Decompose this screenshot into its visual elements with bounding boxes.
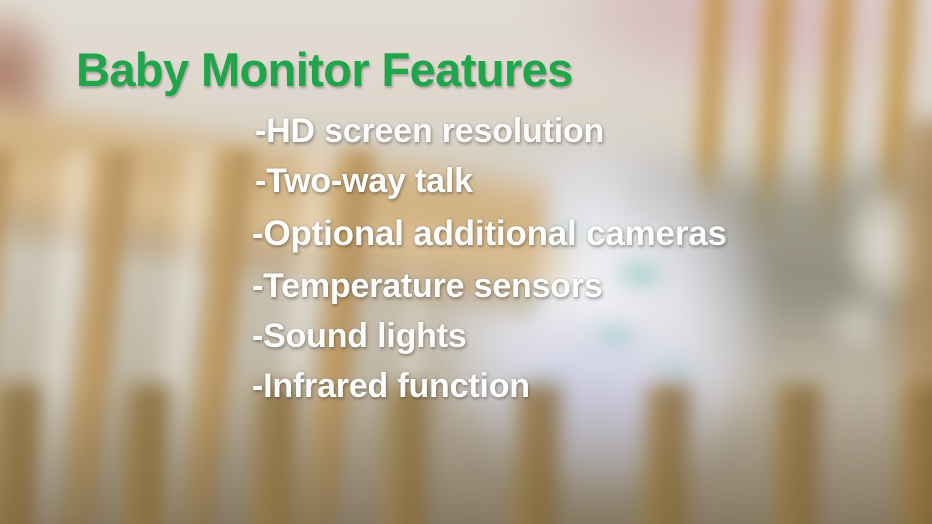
feature-list-item: -Two-way talk [255,164,473,198]
feature-list-item: -Optional additional cameras [252,216,727,251]
feature-list-item: -HD screen resolution [255,114,604,148]
slide-canvas: Baby Monitor Features -HD screen resolut… [0,0,932,524]
slide-title: Baby Monitor Features [76,42,573,97]
feature-list-item: -Temperature sensors [252,269,603,303]
feature-list-item: -Infrared function [252,369,530,403]
text-overlay: Baby Monitor Features -HD screen resolut… [0,0,932,524]
feature-list-item: -Sound lights [252,319,467,353]
